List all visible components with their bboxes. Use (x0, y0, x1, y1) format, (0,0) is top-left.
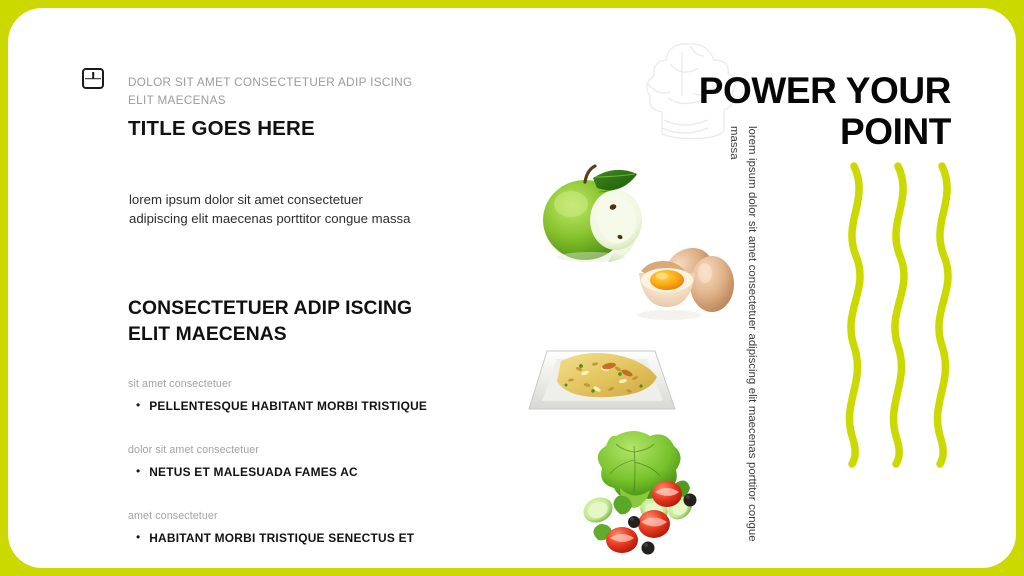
feature-label: HABITANT MORBI TRISTIQUE SENECTUS ET (149, 531, 414, 545)
feature-kicker: dolor sit amet consectetuer (128, 444, 488, 456)
power-headline-line2: POINT (840, 111, 951, 152)
list-item: sit amet consectetuer • PELLENTESQUE HAB… (128, 378, 488, 413)
feature-label: PELLENTESQUE HABITANT MORBI TRISTIQUE (149, 399, 427, 413)
slide-canvas: DOLOR SIT AMET CONSECTETUER ADIP ISCING … (8, 8, 1016, 568)
vertical-caption: lorem ipsum dolor sit amet consectetuer … (724, 126, 760, 546)
layout-placeholder-icon[interactable] (82, 68, 104, 89)
feature-label: NETUS ET MALESUADA FAMES AC (149, 465, 358, 479)
list-item: amet consectetuer • HABITANT MORBI TRIST… (128, 510, 488, 545)
list-item: dolor sit amet consectetuer • NETUS ET M… (128, 444, 488, 479)
page-title: TITLE GOES HERE (128, 117, 315, 141)
intro-paragraph: lorem ipsum dolor sit amet consectetuer … (129, 191, 414, 229)
bullet-icon: • (136, 465, 140, 479)
bullet-icon: • (136, 531, 140, 545)
feature-row: • NETUS ET MALESUADA FAMES AC (128, 465, 488, 479)
feature-kicker: amet consectetuer (128, 510, 488, 522)
feature-row: • PELLENTESQUE HABITANT MORBI TRISTIQUE (128, 399, 488, 413)
power-headline-line1: POWER YOUR (699, 70, 951, 111)
wavy-lines-decoration (836, 160, 971, 470)
feature-kicker: sit amet consectetuer (128, 378, 488, 390)
feature-list: sit amet consectetuer • PELLENTESQUE HAB… (128, 378, 488, 568)
salad-photo (568, 428, 713, 563)
fried-rice-photo (523, 333, 683, 428)
eyebrow-text: DOLOR SIT AMET CONSECTETUER ADIP ISCING … (128, 74, 438, 110)
feature-row: • HABITANT MORBI TRISTIQUE SENECTUS ET (128, 531, 488, 545)
bullet-icon: • (136, 399, 140, 413)
power-headline: POWER YOUR POINT (621, 70, 951, 153)
section-heading: CONSECTETUER ADIP ISCING ELIT MAECENAS (128, 296, 458, 347)
left-content-column: DOLOR SIT AMET CONSECTETUER ADIP ISCING … (8, 8, 528, 568)
